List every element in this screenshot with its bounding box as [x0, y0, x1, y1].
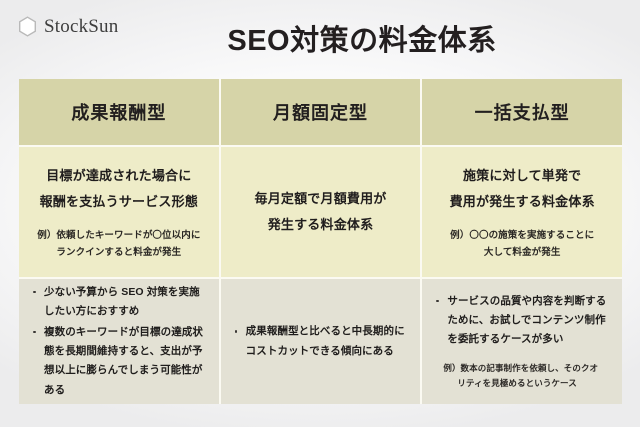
notes-bullet-item: 複数のキーワードが目標の達成状態を長期間維持すると、支出が予想以上に膨らんでしま… — [31, 323, 207, 401]
notes-bullet-item: 少ない予算から SEO 対策を実施したい方におすすめ — [31, 283, 207, 322]
column-title: 月額固定型 — [273, 99, 368, 125]
description-text: 施策に対して単発で費用が発生する料金体系 — [450, 163, 595, 215]
notes-cell-0: 少ない予算から SEO 対策を実施したい方におすすめ複数のキーワードが目標の達成… — [19, 279, 219, 404]
description-text: 目標が達成された場合に報酬を支払うサービス形態 — [40, 163, 198, 215]
notes-bullet-item: 成果報酬型と比べると中長期的にコストカットできる傾向にある — [233, 322, 409, 361]
notes-cell-2: サービスの品質や内容を判断するために、お試しでコンテンツ制作を委託するケースが多… — [420, 279, 622, 404]
column-title: 一括支払型 — [475, 99, 570, 125]
page-title-text: SEO対策の料金体系 — [227, 26, 496, 58]
table-header-row: 成果報酬型 月額固定型 一括支払型 — [19, 79, 622, 145]
description-example: 例）〇〇の施策を実施することに大して料金が発生 — [450, 228, 594, 261]
table-header-cell-2: 一括支払型 — [420, 79, 622, 145]
notes-bullet-list: 少ない予算から SEO 対策を実施したい方におすすめ複数のキーワードが目標の達成… — [31, 283, 207, 401]
table-header-cell-0: 成果報酬型 — [19, 79, 219, 145]
table-notes-row: 少ない予算から SEO 対策を実施したい方におすすめ複数のキーワードが目標の達成… — [19, 277, 622, 404]
notes-bullet-list: サービスの品質や内容を判断するために、お試しでコンテンツ制作を委託するケースが多… — [434, 292, 610, 350]
notes-cell-1: 成果報酬型と比べると中長期的にコストカットできる傾向にある — [219, 279, 421, 404]
notes-example: 例）数本の記事制作を依頼し、そのクオリティを見極めるというケース — [434, 361, 610, 392]
column-title: 成果報酬型 — [71, 99, 166, 125]
notes-bullet-item: サービスの品質や内容を判断するために、お試しでコンテンツ制作を委託するケースが多… — [434, 292, 610, 350]
page-title: SEO対策の料金体系 — [0, 26, 640, 58]
table-header-cell-1: 月額固定型 — [219, 79, 421, 145]
description-cell-1: 毎月定額で月額費用が発生する料金体系 — [219, 147, 421, 277]
notes-bullet-list: 成果報酬型と比べると中長期的にコストカットできる傾向にある — [233, 322, 409, 361]
pricing-comparison-table: 成果報酬型 月額固定型 一括支払型 目標が達成された場合に報酬を支払うサービス形… — [19, 79, 622, 404]
slide-canvas: StockSun SEO対策の料金体系 成果報酬型 月額固定型 一括支払型 目標… — [0, 0, 640, 427]
table-description-row: 目標が達成された場合に報酬を支払うサービス形態 例）依頼したキーワードが〇位以内… — [19, 145, 622, 277]
description-cell-0: 目標が達成された場合に報酬を支払うサービス形態 例）依頼したキーワードが〇位以内… — [19, 147, 219, 277]
description-cell-2: 施策に対して単発で費用が発生する料金体系 例）〇〇の施策を実施することに大して料… — [420, 147, 622, 277]
description-text: 毎月定額で月額費用が発生する料金体系 — [255, 186, 387, 238]
description-example: 例）依頼したキーワードが〇位以内にランクインすると料金が発生 — [37, 228, 200, 261]
